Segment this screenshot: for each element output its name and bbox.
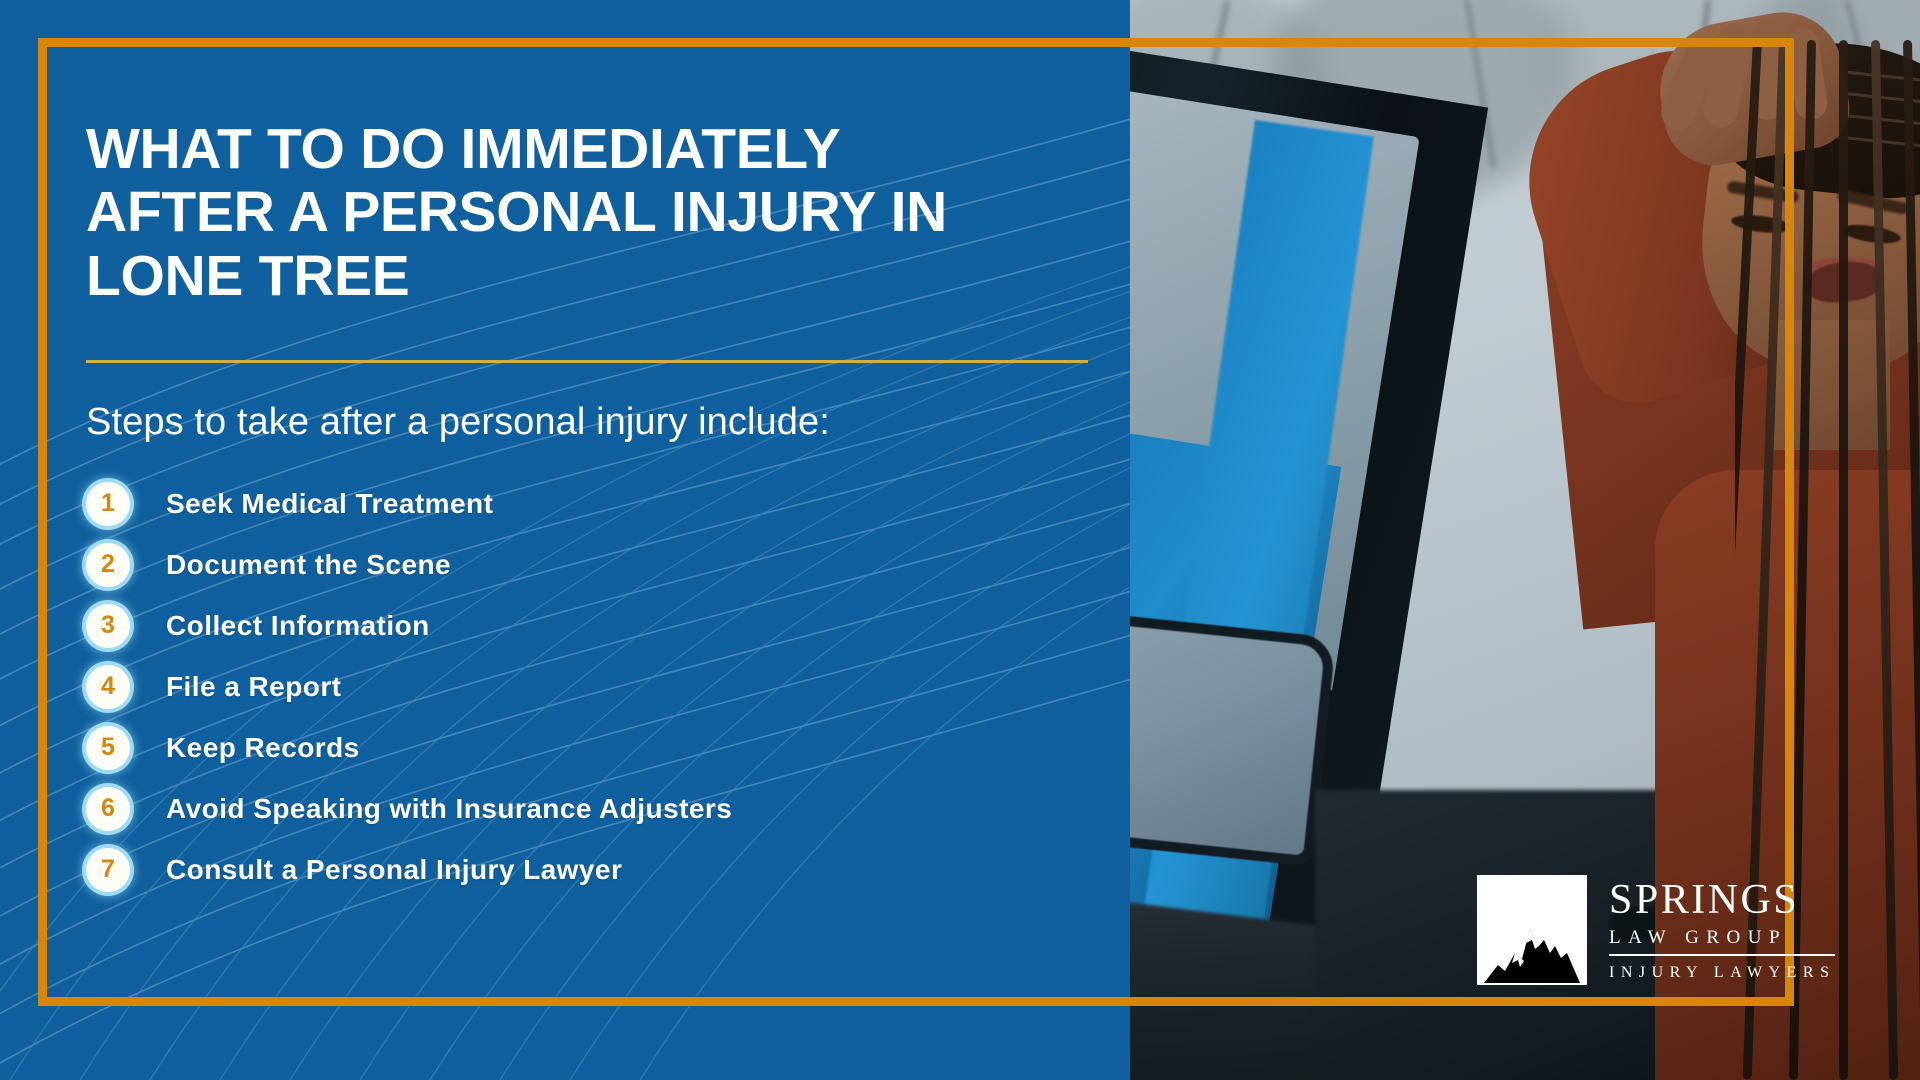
step-label: Consult a Personal Injury Lawyer — [166, 854, 622, 886]
page-title: WHAT TO DO IMMEDIATELY AFTER A PERSONAL … — [86, 118, 1016, 308]
logo-group: LAW GROUP — [1609, 928, 1835, 956]
step-label: Collect Information — [166, 610, 430, 642]
step-number-badge: 1 — [86, 482, 130, 526]
logo-wordmark: SPRINGS LAW GROUP INJURY LAWYERS — [1609, 879, 1835, 981]
list-item: 6 Avoid Speaking with Insurance Adjuster… — [86, 785, 1046, 833]
step-label: File a Report — [166, 671, 341, 703]
step-number-badge: 6 — [86, 787, 130, 831]
braid-strand — [1903, 40, 1920, 1080]
gold-divider — [86, 360, 1088, 363]
step-label: Seek Medical Treatment — [166, 488, 493, 520]
steps-list: 1 Seek Medical Treatment 2 Document the … — [86, 480, 1046, 894]
mountain-icon — [1477, 875, 1587, 985]
list-item: 7 Consult a Personal Injury Lawyer — [86, 846, 1046, 894]
subheading: Steps to take after a personal injury in… — [86, 401, 1046, 444]
step-number-badge: 7 — [86, 848, 130, 892]
panel-content: WHAT TO DO IMMEDIATELY AFTER A PERSONAL … — [86, 118, 1046, 907]
step-number-badge: 3 — [86, 604, 130, 648]
step-label: Avoid Speaking with Insurance Adjusters — [166, 793, 732, 825]
mountain-icon-svg — [1482, 913, 1582, 985]
logo-name: SPRINGS — [1609, 879, 1835, 921]
step-label: Document the Scene — [166, 549, 451, 581]
list-item: 4 File a Report — [86, 663, 1046, 711]
brand-logo: SPRINGS LAW GROUP INJURY LAWYERS — [1477, 875, 1835, 985]
step-number-badge: 2 — [86, 543, 130, 587]
infographic-canvas: WHAT TO DO IMMEDIATELY AFTER A PERSONAL … — [0, 0, 1920, 1080]
step-label: Keep Records — [166, 732, 360, 764]
braid-strand — [1839, 40, 1848, 1080]
left-blue-panel: WHAT TO DO IMMEDIATELY AFTER A PERSONAL … — [0, 0, 1130, 1080]
list-item: 1 Seek Medical Treatment — [86, 480, 1046, 528]
braid-strand — [1871, 40, 1898, 1080]
list-item: 3 Collect Information — [86, 602, 1046, 650]
list-item: 5 Keep Records — [86, 724, 1046, 772]
side-mirror — [1105, 603, 1336, 866]
list-item: 2 Document the Scene — [86, 541, 1046, 589]
logo-tagline: INJURY LAWYERS — [1609, 965, 1835, 981]
step-number-badge: 5 — [86, 726, 130, 770]
step-number-badge: 4 — [86, 665, 130, 709]
